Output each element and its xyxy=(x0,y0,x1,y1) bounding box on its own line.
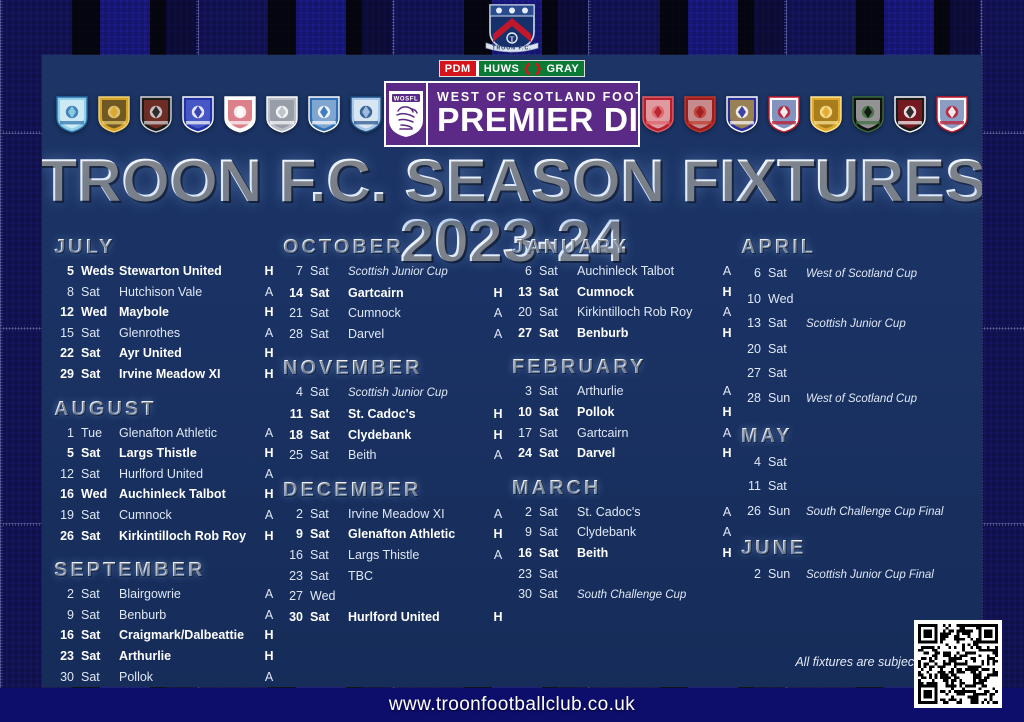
wosfl-shield: WOSFL xyxy=(386,83,428,145)
month-heading: JULY xyxy=(54,235,277,260)
fixtures-grid: JULY5WedsStewarton UnitedH8SatHutchison … xyxy=(42,231,982,687)
fixture-row: 23SatTBC xyxy=(283,566,506,587)
fixture-venue: H xyxy=(261,343,277,364)
fixture-date: 16 xyxy=(283,545,310,566)
fixture-opponent: Darvel xyxy=(348,324,490,345)
fixture-weekday: Sat xyxy=(310,324,348,345)
fixture-opponent: Kirkintilloch Rob Roy xyxy=(119,526,261,547)
fixture-row: 27Wed xyxy=(283,586,506,607)
fixture-venue: H xyxy=(261,526,277,547)
fixture-opponent: Ayr United xyxy=(119,343,261,364)
fixture-opponent: TBC xyxy=(348,566,490,587)
fixture-row: 2SatBlairgowrieA xyxy=(54,584,277,605)
fixture-opponent: St. Cadoc's xyxy=(348,404,490,425)
month-heading: APRIL xyxy=(741,235,964,260)
fixture-row: 21SatCumnockA xyxy=(283,303,506,324)
fixture-row: 3SatArthurlieA xyxy=(512,381,735,402)
badge-club-8-gartcairn-icon xyxy=(348,95,384,133)
month-block: DECEMBER2SatIrvine Meadow XIA9SatGlenaft… xyxy=(283,478,506,628)
fixture-venue: H xyxy=(261,302,277,323)
fixture-weekday: Sun xyxy=(768,499,806,524)
fixture-date: 16 xyxy=(54,484,81,505)
fixture-row: 20SatKirkintilloch Rob RoyA xyxy=(512,302,735,323)
fixture-date: 26 xyxy=(54,526,81,547)
fixture-weekday: Sat xyxy=(310,261,348,282)
fixture-venue: H xyxy=(490,404,506,425)
fixture-row: 4Sat xyxy=(741,450,964,475)
badge-club-6-silver-roundel-icon xyxy=(264,95,300,133)
month-block: JUNE2SunScottish Junior Cup Final xyxy=(741,536,964,588)
sponsor-huws-label: HUWS xyxy=(484,63,520,75)
fixture-weekday: Sat xyxy=(768,474,806,499)
fixture-opponent: Darvel xyxy=(577,443,719,464)
fixture-date: 24 xyxy=(512,443,539,464)
fixture-opponent: Glenafton Athletic xyxy=(119,423,261,444)
sponsor-bar: PDM HUWS ❰❱ GRAY xyxy=(439,60,585,77)
fixture-date: 30 xyxy=(512,584,539,605)
fixture-weekday: Sat xyxy=(539,564,577,585)
fixture-date: 30 xyxy=(283,607,310,628)
sponsor-gray-label: GRAY xyxy=(546,63,579,75)
fixture-row: 9SatGlenafton AthleticH xyxy=(283,524,506,545)
fixture-competition: Scottish Junior Cup Final xyxy=(806,563,948,588)
fixture-weekday: Sat xyxy=(81,282,119,303)
fixture-weekday: Sat xyxy=(310,283,348,304)
fixture-venue: A xyxy=(261,505,277,526)
fixture-row: 26SunSouth Challenge Cup Final xyxy=(741,499,964,525)
fixture-venue: A xyxy=(719,502,735,523)
fixture-weekday: Sat xyxy=(310,404,348,425)
month-block: OCTOBER7SatScottish Junior Cup14SatGartc… xyxy=(283,235,506,344)
fixture-row: 17SatGartcairnA xyxy=(512,423,735,444)
fixture-weekday: Sat xyxy=(768,337,806,362)
fixture-weekday: Sat xyxy=(539,522,577,543)
fixture-venue: H xyxy=(719,323,735,344)
fixture-row: 30SatPollokA xyxy=(54,667,277,688)
fixture-weekday: Sat xyxy=(81,667,119,688)
fixture-venue: H xyxy=(490,425,506,446)
swoosh-icon: ❰❱ xyxy=(522,62,543,74)
fixture-date: 21 xyxy=(283,303,310,324)
badge-club-5-white-red-saltire-icon xyxy=(222,95,258,133)
fixture-weekday: Sun xyxy=(768,562,806,587)
fixture-weekday: Sun xyxy=(768,386,806,411)
fixture-row: 2SatSt. Cadoc'sA xyxy=(512,502,735,523)
month-heading: OCTOBER xyxy=(283,235,506,260)
fixture-opponent: Arthurlie xyxy=(577,381,719,402)
fixture-opponent: Benburb xyxy=(577,323,719,344)
fixture-row: 5WedsStewarton UnitedH xyxy=(54,261,277,282)
fixture-row: 2SatIrvine Meadow XIA xyxy=(283,504,506,525)
fixture-weekday: Sat xyxy=(768,261,806,286)
fixture-row: 16SatCraigmark/DalbeattieH xyxy=(54,625,277,646)
fixture-row: 16SatBeithH xyxy=(512,543,735,564)
month-block: NOVEMBER4SatScottish Junior Cup11SatSt. … xyxy=(283,356,506,465)
fixture-venue: A xyxy=(490,303,506,324)
fixture-competition: Scottish Junior Cup xyxy=(806,312,948,337)
month-heading: DECEMBER xyxy=(283,478,506,503)
fixture-date: 9 xyxy=(512,522,539,543)
fixture-date: 6 xyxy=(741,261,768,286)
fixture-row: 27SatBenburbH xyxy=(512,323,735,344)
fixture-date: 11 xyxy=(283,404,310,425)
badge-club-9-red-roundel-icon xyxy=(640,95,676,133)
fixture-date: 23 xyxy=(512,564,539,585)
fixture-row: 6SatWest of Scotland Cup xyxy=(741,261,964,287)
wosfl-shield-text: WOSFL xyxy=(394,96,419,102)
fixture-opponent: Hurlford United xyxy=(119,464,261,485)
fixture-venue: H xyxy=(490,283,506,304)
fixture-row: 19SatCumnockA xyxy=(54,505,277,526)
fixture-weekday: Sat xyxy=(81,646,119,667)
fixture-weekday: Sat xyxy=(81,323,119,344)
fixture-row: 10Wed xyxy=(741,287,964,312)
fixture-row: 13SatCumnockH xyxy=(512,282,735,303)
fixture-opponent: Hurlford United xyxy=(348,607,490,628)
fixture-opponent: Pollok xyxy=(577,402,719,423)
fixture-date: 2 xyxy=(283,504,310,525)
month-heading: SEPTEMBER xyxy=(54,558,277,583)
fixture-row: 16WedAuchinleck TalbotH xyxy=(54,484,277,505)
fixture-date: 6 xyxy=(512,261,539,282)
fixture-venue: H xyxy=(261,364,277,385)
month-heading: MARCH xyxy=(512,476,735,501)
fixture-date: 15 xyxy=(54,323,81,344)
fixture-venue: H xyxy=(490,524,506,545)
month-block: FEBRUARY3SatArthurlieA10SatPollokH17SatG… xyxy=(512,355,735,463)
fixture-opponent: Largs Thistle xyxy=(119,443,261,464)
sponsor-pdm-label: PDM xyxy=(440,61,476,76)
fixture-opponent: Gartcairn xyxy=(577,423,719,444)
fixture-date: 20 xyxy=(512,302,539,323)
fixture-date: 5 xyxy=(54,443,81,464)
fixture-weekday: Wed xyxy=(768,287,806,312)
fixture-opponent: Pollok xyxy=(119,667,261,688)
fixture-row: 4SatScottish Junior Cup xyxy=(283,382,506,404)
month-heading: AUGUST xyxy=(54,397,277,422)
league-logo: WOSFL WEST OF SCOTLAND FOOTBALL LEAGUE P… xyxy=(384,81,640,147)
fixture-date: 10 xyxy=(741,287,768,312)
fixture-venue: H xyxy=(719,443,735,464)
fixture-date: 28 xyxy=(283,324,310,345)
fixture-date: 12 xyxy=(54,302,81,323)
fixture-venue: H xyxy=(261,443,277,464)
fixture-date: 23 xyxy=(54,646,81,667)
badge-club-1-light-blue-a-icon xyxy=(54,95,90,133)
fixture-opponent: Kirkintilloch Rob Roy xyxy=(577,302,719,323)
fixture-date: 3 xyxy=(512,381,539,402)
month-block: AUGUST1TueGlenafton AthleticA5SatLargs T… xyxy=(54,397,277,547)
fixtures-column-3: JANUARY6SatAuchinleck TalbotA13SatCumnoc… xyxy=(512,231,741,687)
month-heading: MAY xyxy=(741,424,964,449)
fixture-row: 10SatPollokH xyxy=(512,402,735,423)
crest-scroll-text: TROON F.C. xyxy=(492,46,531,52)
month-heading: JANUARY xyxy=(512,235,735,260)
fixture-competition: West of Scotland Cup xyxy=(806,387,948,412)
fixture-venue: A xyxy=(261,605,277,626)
sponsor-huws-gray: HUWS ❰❱ GRAY xyxy=(479,61,585,76)
qr-code[interactable] xyxy=(914,620,1002,708)
fixture-opponent: Hutchison Vale xyxy=(119,282,261,303)
fixture-weekday: Wed xyxy=(81,484,119,505)
fixture-date: 27 xyxy=(741,361,768,386)
qr-code-svg xyxy=(918,624,998,704)
fixture-venue: A xyxy=(261,584,277,605)
fixture-opponent: Arthurlie xyxy=(119,646,261,667)
fixture-venue: A xyxy=(719,423,735,444)
fixture-opponent: St. Cadoc's xyxy=(577,502,719,523)
fixture-date: 25 xyxy=(283,445,310,466)
fixture-weekday: Sat xyxy=(310,425,348,446)
fixture-date: 5 xyxy=(54,261,81,282)
fixture-row: 15SatGlenrothesA xyxy=(54,323,277,344)
fixture-weekday: Sat xyxy=(539,323,577,344)
badge-club-14-black-saltire-icon xyxy=(850,95,886,133)
fixture-venue: A xyxy=(261,323,277,344)
fixture-row: 9SatBenburbA xyxy=(54,605,277,626)
fixture-row: 11SatSt. Cadoc'sH xyxy=(283,404,506,425)
fixture-date: 23 xyxy=(283,566,310,587)
badge-club-16-white-blue-shield-icon xyxy=(934,95,970,133)
fixture-weekday: Sat xyxy=(310,566,348,587)
footer-bar: www.troonfootballclub.co.uk xyxy=(0,688,1024,722)
fixtures-column-2: OCTOBER7SatScottish Junior Cup14SatGartc… xyxy=(283,231,512,687)
fixture-weekday: Sat xyxy=(310,545,348,566)
fixture-venue: A xyxy=(719,302,735,323)
fixture-weekday: Sat xyxy=(81,625,119,646)
month-block: MAY4Sat11Sat26SunSouth Challenge Cup Fin… xyxy=(741,424,964,525)
fixture-date: 18 xyxy=(283,425,310,446)
fixture-row: 22SatAyr UnitedH xyxy=(54,343,277,364)
fixture-row: 18SatClydebankH xyxy=(283,425,506,446)
fixture-weekday: Sat xyxy=(539,443,577,464)
fixture-opponent: Beith xyxy=(348,445,490,466)
fixture-venue: A xyxy=(261,667,277,688)
fixture-date: 20 xyxy=(741,337,768,362)
fixture-opponent: Cumnock xyxy=(119,505,261,526)
fixture-weekday: Sat xyxy=(310,303,348,324)
fixture-weekday: Sat xyxy=(539,261,577,282)
month-block: JANUARY6SatAuchinleck TalbotA13SatCumnoc… xyxy=(512,235,735,343)
fixture-venue: A xyxy=(719,381,735,402)
badge-club-11-blue-purple-shield-icon xyxy=(724,95,760,133)
fixture-date: 9 xyxy=(283,524,310,545)
fixture-row: 1TueGlenafton AthleticA xyxy=(54,423,277,444)
fixture-weekday: Wed xyxy=(81,302,119,323)
fixture-weekday: Sat xyxy=(539,584,577,605)
badges-right xyxy=(640,95,970,133)
fixture-weekday: Wed xyxy=(310,586,348,607)
fixture-weekday: Sat xyxy=(310,382,348,403)
fixture-weekday: Sat xyxy=(81,464,119,485)
fixture-weekday: Sat xyxy=(539,302,577,323)
fixture-competition: Scottish Junior Cup xyxy=(348,383,490,404)
fixture-opponent: Blairgowrie xyxy=(119,584,261,605)
fixture-competition: South Challenge Cup xyxy=(577,585,719,606)
month-block: APRIL6SatWest of Scotland Cup10Wed13SatS… xyxy=(741,235,964,412)
fixture-row: 8SatHutchison ValeA xyxy=(54,282,277,303)
fixture-venue: A xyxy=(490,324,506,345)
month-block: SEPTEMBER2SatBlairgowrieA9SatBenburbA16S… xyxy=(54,558,277,687)
fixture-opponent: Maybole xyxy=(119,302,261,323)
fixture-row: 6SatAuchinleck TalbotA xyxy=(512,261,735,282)
fixture-venue: A xyxy=(719,261,735,282)
fixture-row: 24SatDarvelH xyxy=(512,443,735,464)
fixture-weekday: Sat xyxy=(310,504,348,525)
fixture-venue: H xyxy=(261,484,277,505)
fixture-weekday: Sat xyxy=(81,343,119,364)
fixture-date: 13 xyxy=(741,311,768,336)
fixture-weekday: Sat xyxy=(539,381,577,402)
website-url: www.troonfootballclub.co.uk xyxy=(389,694,635,716)
fixtures-column-1: JULY5WedsStewarton UnitedH8SatHutchison … xyxy=(54,231,283,687)
fixture-date: 7 xyxy=(283,261,310,282)
fixture-date: 27 xyxy=(283,586,310,607)
fixture-weekday: Sat xyxy=(310,607,348,628)
fixture-competition: South Challenge Cup Final xyxy=(806,500,948,525)
fixture-weekday: Sat xyxy=(539,402,577,423)
troon-fc-crest: T TROON F.C. xyxy=(482,2,542,54)
fixture-date: 26 xyxy=(741,499,768,524)
fixture-weekday: Sat xyxy=(81,526,119,547)
fixture-row: 9SatClydebankA xyxy=(512,522,735,543)
fixture-weekday: Sat xyxy=(81,443,119,464)
badge-club-2-gold-black-stripes-icon xyxy=(96,95,132,133)
badge-club-13-gold-galley-icon xyxy=(808,95,844,133)
crest-monogram: T xyxy=(510,36,515,44)
fixture-weekday: Tue xyxy=(81,423,119,444)
fixture-date: 19 xyxy=(54,505,81,526)
fixture-date: 2 xyxy=(512,502,539,523)
fixture-row: 16SatLargs ThistleA xyxy=(283,545,506,566)
fixture-date: 10 xyxy=(512,402,539,423)
fixture-weekday: Sat xyxy=(81,584,119,605)
fixture-date: 4 xyxy=(283,382,310,403)
logo-row: WOSFL WEST OF SCOTLAND FOOTBALL LEAGUE P… xyxy=(54,79,970,149)
league-logo-text: WEST OF SCOTLAND FOOTBALL LEAGUE PREMIER… xyxy=(428,83,640,145)
fixture-row: 30SatSouth Challenge Cup xyxy=(512,584,735,606)
fixtures-panel: PDM HUWS ❰❱ GRAY WOSFL xyxy=(42,55,982,687)
fixture-weekday: Sat xyxy=(81,605,119,626)
fixture-date: 12 xyxy=(54,464,81,485)
fixture-opponent: Craigmark/Dalbeattie xyxy=(119,625,261,646)
fixture-weekday: Sat xyxy=(539,502,577,523)
badge-club-10-red-shield-icon xyxy=(682,95,718,133)
fixture-row: 28SatDarvelA xyxy=(283,324,506,345)
fixture-row: 27Sat xyxy=(741,361,964,386)
fixture-opponent: Gartcairn xyxy=(348,283,490,304)
fixture-venue: H xyxy=(719,543,735,564)
top-crest-container: T TROON F.C. xyxy=(0,2,1024,52)
fixture-venue: A xyxy=(490,504,506,525)
fixture-opponent: Cumnock xyxy=(577,282,719,303)
fixture-opponent: Irvine Meadow XI xyxy=(119,364,261,385)
fixture-weekday: Sat xyxy=(539,282,577,303)
badges-left xyxy=(54,95,384,133)
fixture-date: 22 xyxy=(54,343,81,364)
month-heading: JUNE xyxy=(741,536,964,561)
fixture-weekday: Sat xyxy=(539,543,577,564)
fixture-weekday: Sat xyxy=(768,450,806,475)
fixture-row: 20Sat xyxy=(741,337,964,362)
fixture-opponent: Clydebank xyxy=(577,522,719,543)
fixture-row: 28SunWest of Scotland Cup xyxy=(741,386,964,412)
fixture-date: 11 xyxy=(741,474,768,499)
fixture-date: 9 xyxy=(54,605,81,626)
fixture-weekday: Weds xyxy=(81,261,119,282)
league-division-line: PREMIER DIVISION xyxy=(437,104,640,135)
fixture-weekday: Sat xyxy=(768,361,806,386)
fixture-opponent: Stewarton United xyxy=(119,261,261,282)
fixture-venue: H xyxy=(719,402,735,423)
fixture-date: 2 xyxy=(54,584,81,605)
month-heading: NOVEMBER xyxy=(283,356,506,381)
month-block: JULY5WedsStewarton UnitedH8SatHutchison … xyxy=(54,235,277,385)
fixture-venue: A xyxy=(261,282,277,303)
fixture-venue: A xyxy=(261,423,277,444)
fixture-opponent: Irvine Meadow XI xyxy=(348,504,490,525)
badge-club-15-black-red-roundel-icon xyxy=(892,95,928,133)
fixture-venue: A xyxy=(719,522,735,543)
fixture-weekday: Sat xyxy=(81,364,119,385)
badge-club-7-blue-castle-icon xyxy=(306,95,342,133)
fixture-weekday: Sat xyxy=(81,505,119,526)
fixture-date: 17 xyxy=(512,423,539,444)
fixture-venue: H xyxy=(261,646,277,667)
month-block: MARCH2SatSt. Cadoc'sA9SatClydebankA16Sat… xyxy=(512,476,735,606)
fixture-row: 23Sat xyxy=(512,564,735,585)
fixture-weekday: Sat xyxy=(539,423,577,444)
fixture-date: 16 xyxy=(512,543,539,564)
fixture-opponent: Auchinleck Talbot xyxy=(577,261,719,282)
sponsor-strip: PDM HUWS ❰❱ GRAY xyxy=(42,60,982,77)
fixture-weekday: Sat xyxy=(768,311,806,336)
fixture-opponent: Benburb xyxy=(119,605,261,626)
badge-club-12-kirkintilloch-rob-roy-icon xyxy=(766,95,802,133)
fixture-date: 27 xyxy=(512,323,539,344)
badge-club-3-black-shield-icon xyxy=(138,95,174,133)
fixtures-column-4: APRIL6SatWest of Scotland Cup10Wed13SatS… xyxy=(741,231,970,687)
fixture-date: 30 xyxy=(54,667,81,688)
fixture-opponent: Glenafton Athletic xyxy=(348,524,490,545)
fixture-row: 30SatHurlford UnitedH xyxy=(283,607,506,628)
fixture-venue: H xyxy=(719,282,735,303)
fixture-date: 13 xyxy=(512,282,539,303)
fixture-opponent: Auchinleck Talbot xyxy=(119,484,261,505)
fixture-competition: Scottish Junior Cup xyxy=(348,262,490,283)
fixture-row: 11Sat xyxy=(741,474,964,499)
fixture-date: 28 xyxy=(741,386,768,411)
fixture-row: 12WedMayboleH xyxy=(54,302,277,323)
fixture-opponent: Clydebank xyxy=(348,425,490,446)
fixture-row: 29SatIrvine Meadow XIH xyxy=(54,364,277,385)
fixture-row: 26SatKirkintilloch Rob RoyH xyxy=(54,526,277,547)
fixture-date: 8 xyxy=(54,282,81,303)
fixture-weekday: Sat xyxy=(310,524,348,545)
fixture-row: 14SatGartcairnH xyxy=(283,283,506,304)
fixture-row: 5SatLargs ThistleH xyxy=(54,443,277,464)
month-heading: FEBRUARY xyxy=(512,355,735,380)
fixture-opponent: Cumnock xyxy=(348,303,490,324)
fixture-venue: A xyxy=(490,545,506,566)
fixture-date: 4 xyxy=(741,450,768,475)
fixture-venue: H xyxy=(490,607,506,628)
badge-club-4-blue-shield-icon xyxy=(180,95,216,133)
fixture-row: 25SatBeithA xyxy=(283,445,506,466)
fixture-opponent: Glenrothes xyxy=(119,323,261,344)
fixture-date: 14 xyxy=(283,283,310,304)
fixture-venue: A xyxy=(261,464,277,485)
